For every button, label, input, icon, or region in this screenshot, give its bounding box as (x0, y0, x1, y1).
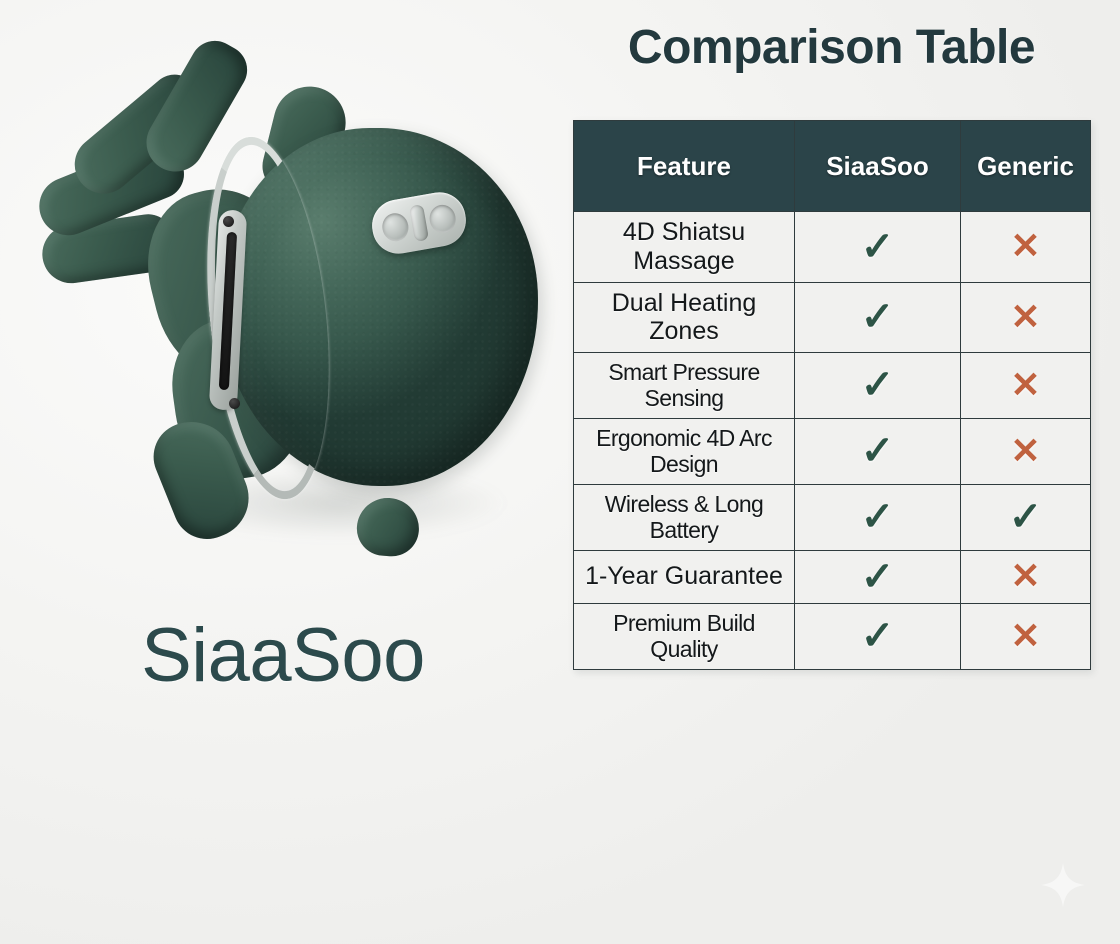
cross-icon: ✕ (1010, 367, 1040, 403)
table-row: 4D Shiatsu Massage✓✕ (574, 212, 1091, 283)
table-row: Premium Build Quality✓✕ (574, 603, 1091, 669)
feature-cell: Smart Pressure Sensing (574, 353, 795, 419)
table-row: Dual Heating Zones✓✕ (574, 282, 1091, 353)
power-button-icon[interactable] (380, 211, 410, 243)
check-icon: ✓ (861, 616, 895, 656)
column-header-siaasoo: SiaaSoo (795, 121, 961, 212)
cross-icon: ✕ (1010, 558, 1040, 594)
cross-icon: ✕ (1010, 228, 1040, 264)
generic-cell: ✕ (961, 418, 1091, 484)
generic-cell: ✓ (961, 484, 1091, 550)
feature-cell: 4D Shiatsu Massage (574, 212, 795, 283)
feature-cell: Dual Heating Zones (574, 282, 795, 353)
vent-screw-dot (223, 216, 234, 227)
feature-cell: Premium Build Quality (574, 603, 795, 669)
feature-cell: 1-Year Guarantee (574, 550, 795, 603)
product-image-massager (24, 68, 544, 538)
siaasoo-cell: ✓ (795, 603, 961, 669)
siaasoo-cell: ✓ (795, 418, 961, 484)
feature-cell: Wireless & Long Battery (574, 484, 795, 550)
siaasoo-cell: ✓ (795, 353, 961, 419)
feature-cell: Ergonomic 4D Arc Design (574, 418, 795, 484)
sparkle-icon (1040, 862, 1086, 908)
siaasoo-cell: ✓ (795, 550, 961, 603)
table-row: Smart Pressure Sensing✓✕ (574, 353, 1091, 419)
check-icon: ✓ (861, 497, 895, 537)
check-icon: ✓ (861, 297, 895, 337)
table-body: 4D Shiatsu Massage✓✕Dual Heating Zones✓✕… (574, 212, 1091, 670)
cross-icon: ✕ (1010, 618, 1040, 654)
generic-cell: ✕ (961, 212, 1091, 283)
column-header-generic: Generic (961, 121, 1091, 212)
check-icon: ✓ (861, 557, 895, 597)
generic-cell: ✕ (961, 353, 1091, 419)
vent-screw-dot (229, 398, 240, 409)
table-row: Ergonomic 4D Arc Design✓✕ (574, 418, 1091, 484)
table-row: Wireless & Long Battery✓✓ (574, 484, 1091, 550)
product-panel: SiaaSoo (0, 0, 566, 944)
cross-icon: ✕ (1010, 299, 1040, 335)
check-icon: ✓ (1009, 497, 1043, 537)
generic-cell: ✕ (961, 550, 1091, 603)
control-slot-icon (409, 204, 429, 242)
page-title: Comparison Table (573, 20, 1090, 75)
comparison-infographic: SiaaSoo Comparison Table Feature SiaaSoo… (0, 0, 1120, 944)
cross-icon: ✕ (1010, 433, 1040, 469)
generic-cell: ✕ (961, 603, 1091, 669)
brand-wordmark: SiaaSoo (0, 612, 566, 699)
siaasoo-cell: ✓ (795, 212, 961, 283)
generic-cell: ✕ (961, 282, 1091, 353)
mode-button-icon[interactable] (427, 203, 457, 235)
table-row: 1-Year Guarantee✓✕ (574, 550, 1091, 603)
comparison-table: Feature SiaaSoo Generic 4D Shiatsu Massa… (573, 120, 1091, 670)
check-icon: ✓ (861, 365, 895, 405)
siaasoo-cell: ✓ (795, 484, 961, 550)
column-header-feature: Feature (574, 121, 795, 212)
siaasoo-cell: ✓ (795, 282, 961, 353)
check-icon: ✓ (861, 227, 895, 267)
check-icon: ✓ (861, 431, 895, 471)
table-header: Feature SiaaSoo Generic (574, 121, 1091, 212)
table-header-row: Feature SiaaSoo Generic (574, 121, 1091, 212)
